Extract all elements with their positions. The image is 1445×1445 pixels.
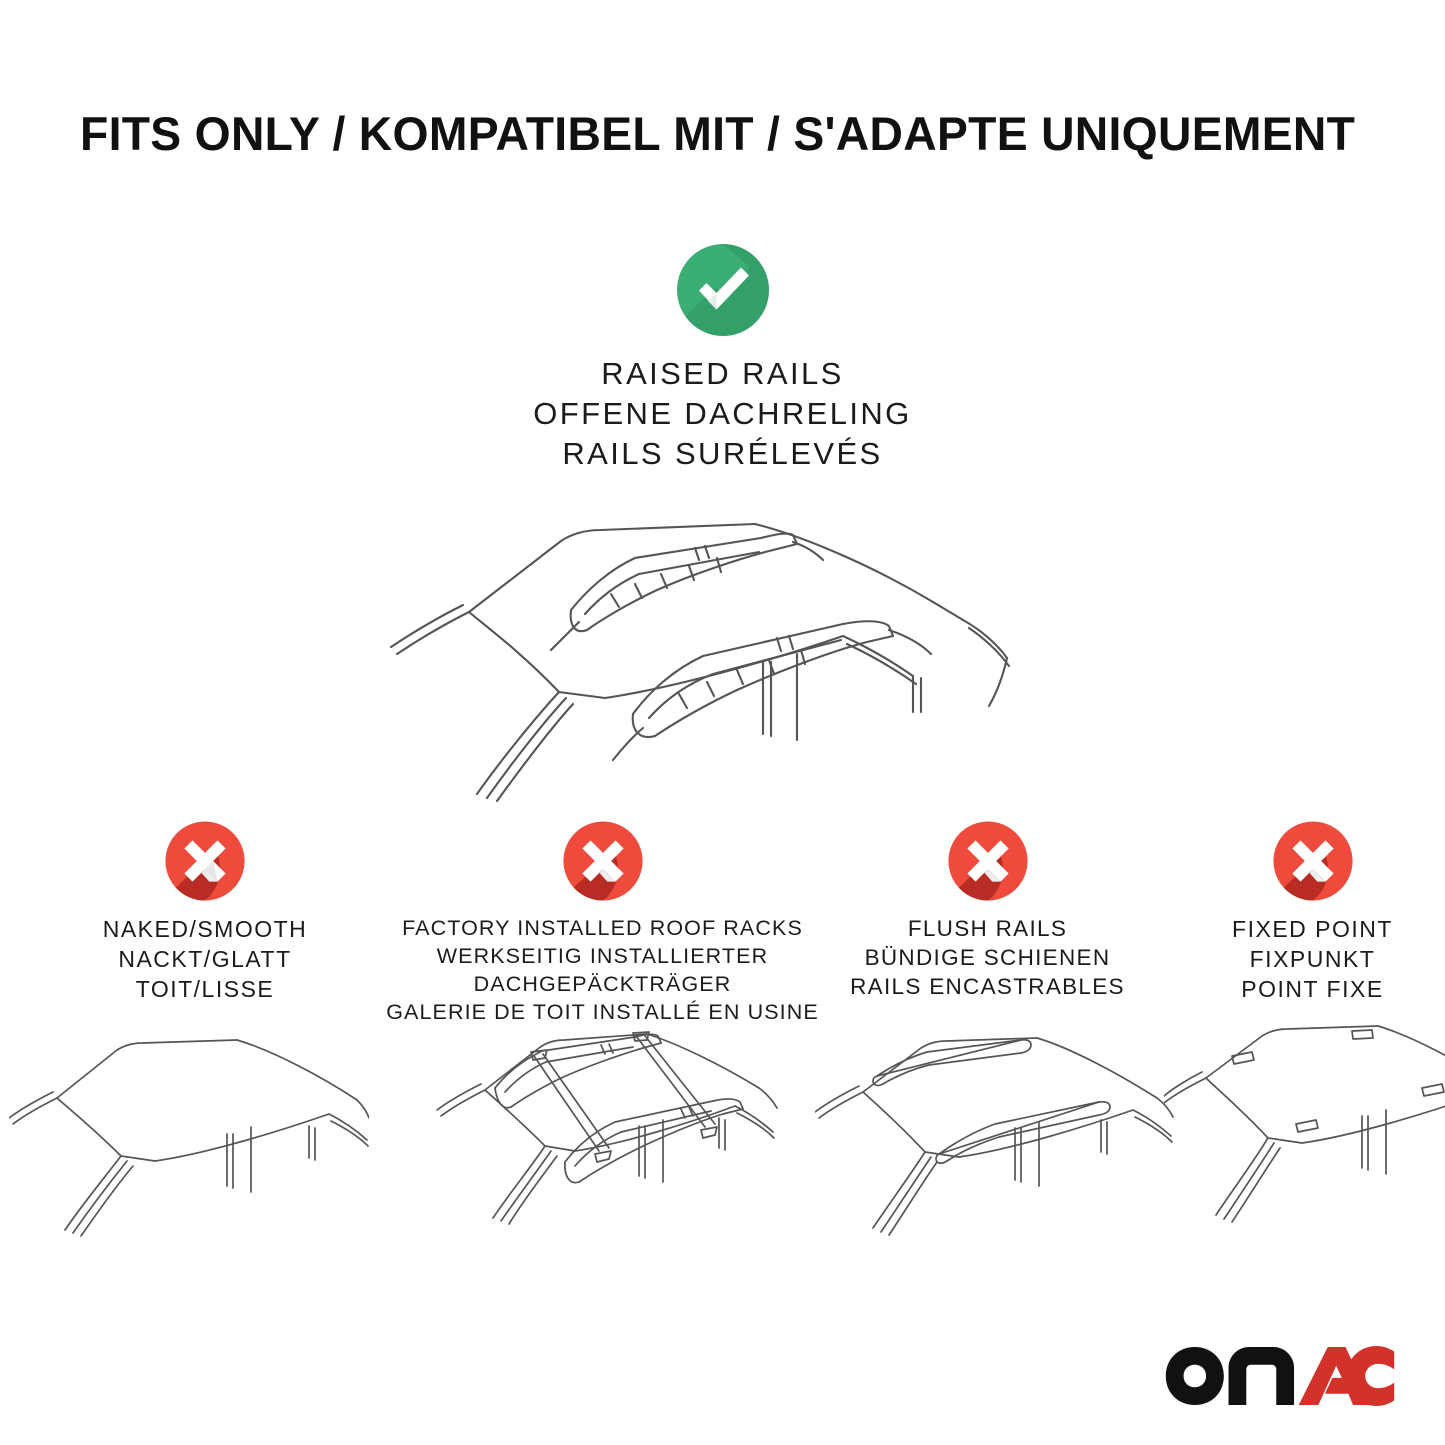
incompatible-label-en: NAKED/SMOOTH: [103, 914, 308, 944]
incompatible-row: NAKED/SMOOTH NACKT/GLATT TOIT/LISSE: [0, 818, 1445, 1026]
incompatible-label-de-2: DACHGEPÄCKTRÄGER: [386, 970, 819, 998]
car-roof-flush-rails-illustration: [815, 1014, 1175, 1244]
compatible-label-de: OFFENE DACHRELING: [0, 394, 1445, 434]
check-icon: [673, 240, 773, 340]
car-roof-factory-roof-racks-illustration: [423, 1004, 783, 1234]
incompatible-labels: FIXED POINT FIXPUNKT POINT FIXE: [1232, 914, 1393, 1004]
incompatible-item-fixed-point: FIXED POINT FIXPUNKT POINT FIXE: [1180, 818, 1445, 1026]
incompatible-label-en: FLUSH RAILS: [850, 914, 1125, 943]
compatible-label-fr: RAILS SURÉLEVÉS: [0, 434, 1445, 474]
incompatible-label-fr: TOIT/LISSE: [103, 974, 308, 1004]
car-roof-raised-rails-illustration: [373, 502, 1073, 802]
incompatible-label-de: FIXPUNKT: [1232, 944, 1393, 974]
omac-logo: [1163, 1345, 1397, 1407]
cross-icon: [560, 818, 646, 904]
car-roof-naked-smooth-illustration: [9, 1014, 369, 1244]
incompatible-label-de-1: WERKSEITIG INSTALLIERTER: [386, 942, 819, 970]
car-roof-fixed-point-illustration: [1164, 1014, 1445, 1244]
incompatible-label-fr: RAILS ENCASTRABLES: [850, 972, 1125, 1001]
incompatible-item-flush-rails: FLUSH RAILS BÜNDIGE SCHIENEN RAILS ENCAS…: [795, 818, 1180, 1026]
incompatible-label-fr: POINT FIXE: [1232, 974, 1393, 1004]
compatible-label-en: RAISED RAILS: [0, 354, 1445, 394]
compatible-labels: RAISED RAILS OFFENE DACHRELING RAILS SUR…: [0, 354, 1445, 474]
incompatible-label-de: BÜNDIGE SCHIENEN: [850, 943, 1125, 972]
compatibility-infographic: FITS ONLY / KOMPATIBEL MIT / S'ADAPTE UN…: [0, 0, 1445, 1445]
cross-icon: [162, 818, 248, 904]
incompatible-label-en: FIXED POINT: [1232, 914, 1393, 944]
compatible-section: RAISED RAILS OFFENE DACHRELING RAILS SUR…: [0, 240, 1445, 474]
incompatible-label-en: FACTORY INSTALLED ROOF RACKS: [386, 914, 819, 942]
cross-icon: [1270, 818, 1356, 904]
incompatible-item-factory-roof-racks: FACTORY INSTALLED ROOF RACKS WERKSEITIG …: [410, 818, 795, 1026]
incompatible-label-de: NACKT/GLATT: [103, 944, 308, 974]
incompatible-labels: FLUSH RAILS BÜNDIGE SCHIENEN RAILS ENCAS…: [850, 914, 1125, 1001]
omac-logo-mark: [1163, 1345, 1397, 1407]
cross-icon: [945, 818, 1031, 904]
page-title: FITS ONLY / KOMPATIBEL MIT / S'ADAPTE UN…: [80, 106, 1361, 161]
incompatible-item-naked-smooth: NAKED/SMOOTH NACKT/GLATT TOIT/LISSE: [0, 818, 410, 1026]
incompatible-labels: NAKED/SMOOTH NACKT/GLATT TOIT/LISSE: [103, 914, 308, 1004]
